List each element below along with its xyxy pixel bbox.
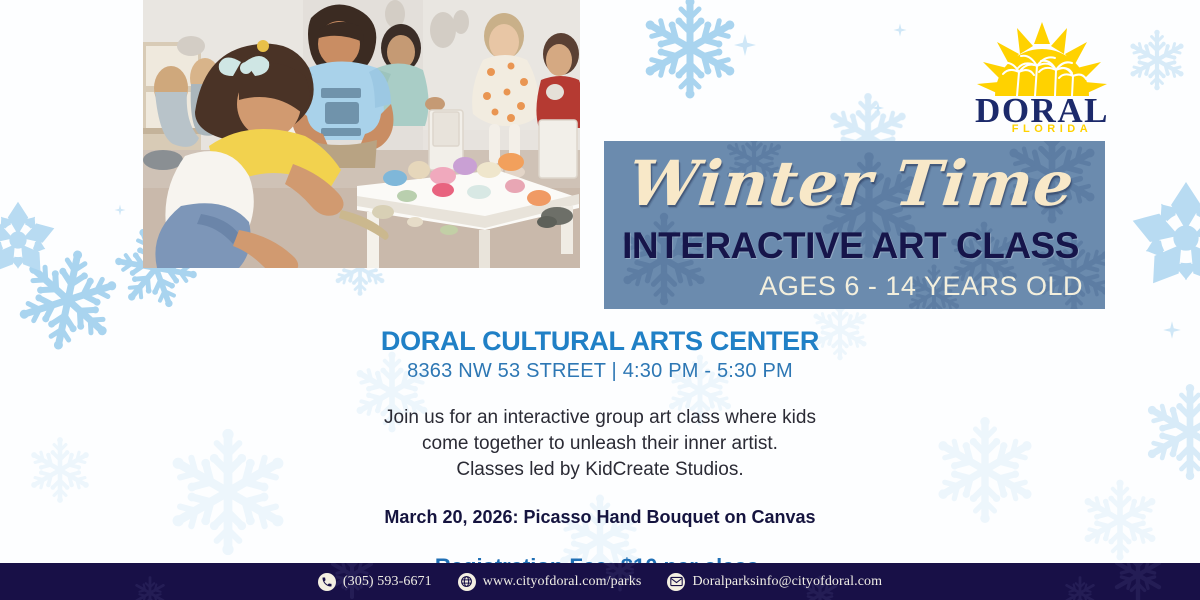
event-flyer: DORAL FLORIDA	[0, 0, 1200, 600]
footer-phone[interactable]: (305) 593-6671	[318, 573, 432, 591]
website-url: www.cityofdoral.com/parks	[483, 574, 642, 590]
email-address: Doralparksinfo@cityofdoral.com	[692, 574, 882, 590]
phone-icon	[318, 573, 336, 591]
event-photo	[143, 0, 580, 268]
banner-headline: INTERACTIVE ART CLASS	[604, 225, 1097, 267]
logo-state-name: FLORIDA	[1012, 123, 1092, 133]
session-date-topic: March 20, 2026: Picasso Hand Bouquet on …	[0, 505, 1200, 529]
footer-website[interactable]: www.cityofdoral.com/parks	[458, 573, 642, 591]
phone-number: (305) 593-6671	[343, 574, 432, 590]
description-line-3: Classes led by KidCreate Studios.	[0, 457, 1200, 483]
event-title-banner: Winter Time INTERACTIVE ART CLASS AGES 6…	[604, 141, 1105, 309]
description-line-1: Join us for an interactive group art cla…	[0, 405, 1200, 431]
banner-age-range: AGES 6 - 14 YEARS OLD	[604, 270, 1091, 302]
banner-script-title: Winter Time	[604, 145, 1103, 223]
event-details: DORAL CULTURAL ARTS CENTER 8363 NW 53 ST…	[0, 325, 1200, 600]
photo-illustration	[143, 0, 580, 268]
sun-icon	[977, 22, 1107, 96]
envelope-icon	[667, 573, 685, 591]
event-description: Join us for an interactive group art cla…	[0, 405, 1200, 483]
venue-address-time: 8363 NW 53 STREET | 4:30 PM - 5:30 PM	[0, 357, 1200, 385]
contact-footer: (305) 593-6671 www.cityofdoral.com/parks…	[0, 563, 1200, 600]
footer-email[interactable]: Doralparksinfo@cityofdoral.com	[667, 573, 882, 591]
description-line-2: come together to unleash their inner art…	[0, 431, 1200, 457]
globe-icon	[458, 573, 476, 591]
doral-city-logo: DORAL FLORIDA	[955, 18, 1130, 133]
venue-name: DORAL CULTURAL ARTS CENTER	[0, 325, 1200, 357]
